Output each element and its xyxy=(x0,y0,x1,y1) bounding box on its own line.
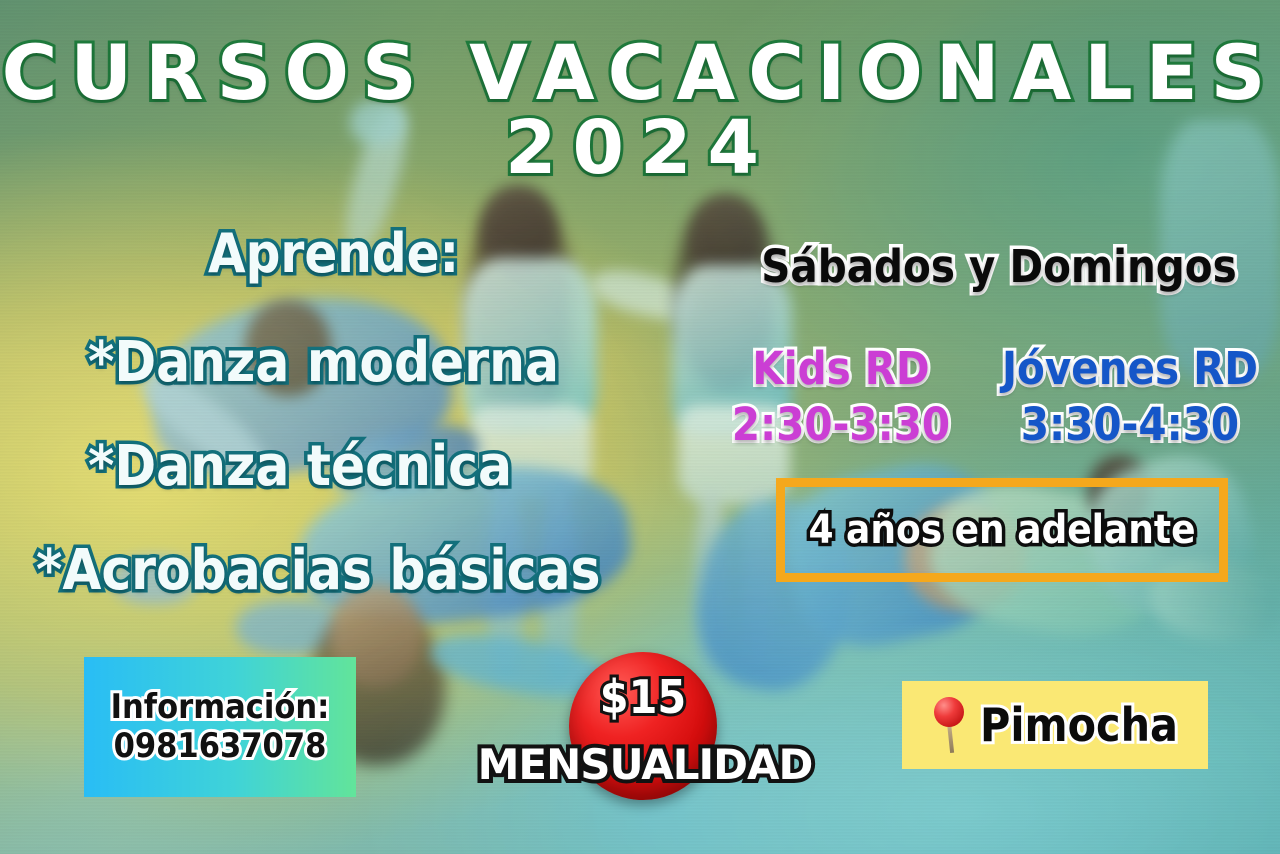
price-amount: $15 xyxy=(569,670,717,724)
location-box: Pimocha xyxy=(902,681,1208,769)
learn-item-acrobatics: *Acrobacias básicas xyxy=(36,538,600,603)
schedule-group-teens: Jóvenes RD 3:30-4:30 xyxy=(990,341,1270,454)
price-badge: $15 MENSUALIDAD xyxy=(569,652,717,800)
schedule-group-teens-name: Jóvenes RD xyxy=(1002,342,1258,395)
price-period-label: MENSUALIDAD xyxy=(445,740,845,789)
age-requirement-text: 4 años en adelante xyxy=(809,507,1196,553)
contact-info-box: Información: 0981637078 xyxy=(84,657,356,797)
learn-heading: Aprende: xyxy=(208,222,459,285)
poster-title-year: 2024 xyxy=(0,114,1280,182)
contact-info-label: Información: xyxy=(111,689,330,726)
schedule-group-teens-time: 3:30-4:30 xyxy=(990,397,1270,453)
schedule-group-kids: Kids RD 2:30-3:30 xyxy=(716,341,966,454)
promo-poster: CURSOS VACACIONALES 2024 Aprende: *Danza… xyxy=(0,0,1280,854)
schedule-group-kids-name: Kids RD xyxy=(752,342,929,395)
age-requirement-box: 4 años en adelante xyxy=(776,478,1228,582)
location-name: Pimocha xyxy=(980,698,1178,752)
content-layer: CURSOS VACACIONALES 2024 Aprende: *Danza… xyxy=(0,0,1280,854)
schedule-group-kids-time: 2:30-3:30 xyxy=(716,397,966,453)
pin-icon xyxy=(932,697,966,753)
schedule-days: Sábados y Domingos xyxy=(744,240,1254,293)
poster-title: CURSOS VACACIONALES 2024 xyxy=(0,38,1280,182)
contact-phone-number[interactable]: 0981637078 xyxy=(114,728,327,765)
poster-title-main: CURSOS VACACIONALES xyxy=(2,28,1279,117)
learn-item-modern-dance: *Danza moderna xyxy=(88,330,559,395)
learn-item-technical-dance: *Danza técnica xyxy=(88,434,512,499)
